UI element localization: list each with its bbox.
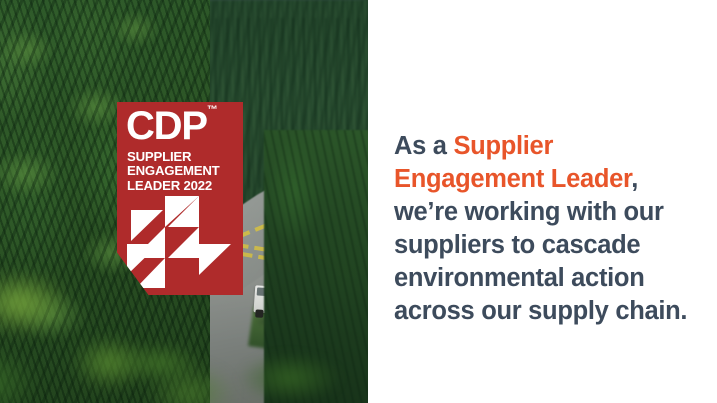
cdp-triangle-mark [127, 196, 233, 288]
badge-award-lines: SUPPLIER ENGAGEMENT LEADER 2022 [127, 150, 220, 193]
conifer-branch-tuft [0, 150, 60, 198]
trademark-icon: ™ [207, 104, 218, 116]
cdp-wordmark: CDP™ [126, 106, 218, 146]
badge-line-leader-year: LEADER 2022 [127, 179, 220, 193]
text-panel: As a Supplier Engagement Leader, we’re w… [368, 0, 717, 403]
headline-segment-lead: As a [394, 132, 453, 160]
mark-triangle [199, 244, 231, 275]
cdp-wordmark-text: CDP [126, 104, 207, 148]
foreground-blurred-foliage-2 [120, 283, 368, 403]
photo-panel: CDP™ SUPPLIER ENGAGEMENT LEADER 2022 [0, 0, 368, 403]
mark-triangle [136, 258, 165, 288]
mark-triangle [168, 227, 199, 258]
headline: As a Supplier Engagement Leader, we’re w… [394, 130, 694, 328]
slide-root: CDP™ SUPPLIER ENGAGEMENT LEADER 2022 [0, 0, 717, 403]
badge-line-supplier: SUPPLIER [127, 150, 220, 164]
conifer-branch-tuft [110, 10, 160, 48]
conifer-branch-tuft [0, 30, 56, 70]
cdp-award-badge: CDP™ SUPPLIER ENGAGEMENT LEADER 2022 [117, 102, 243, 295]
badge-line-engagement: ENGAGEMENT [127, 164, 220, 178]
